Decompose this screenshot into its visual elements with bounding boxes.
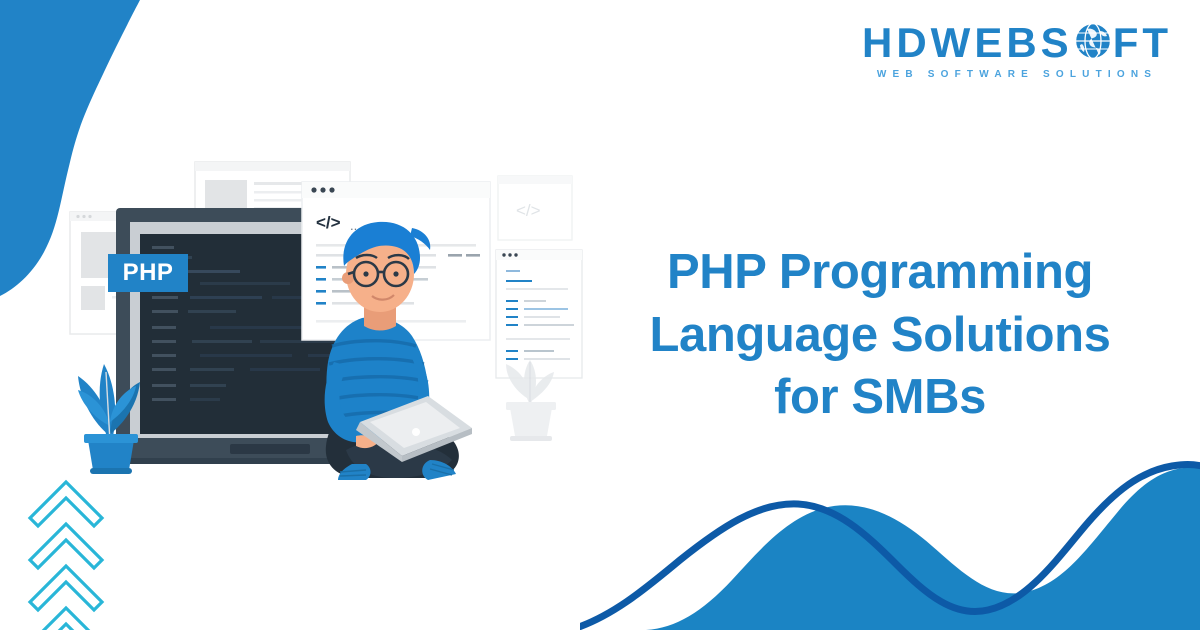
globe-icon <box>1074 22 1112 60</box>
side-window-code-glyph: </> <box>498 176 572 240</box>
page-title-line-1: PHP Programming <box>590 241 1170 304</box>
blue-waves-decoration <box>580 450 1200 630</box>
logo-text-part-2: FT <box>1113 22 1172 64</box>
banner-canvas: HDWEBS FT WEB SOFTWARE SOLUTIONS PHP Pro <box>0 0 1200 630</box>
developer-with-laptop-illustration: </> ... </> <box>60 150 600 490</box>
chevron-up-icon-stack <box>20 470 130 630</box>
logo-text-part-1: HDWEBS <box>862 22 1073 64</box>
page-title-line-2: Language Solutions <box>590 304 1170 367</box>
logo-tagline: WEB SOFTWARE SOLUTIONS <box>877 69 1157 80</box>
logo-wordmark: HDWEBS FT <box>862 22 1172 64</box>
php-badge-label: PHP <box>123 259 174 287</box>
hdwebsoft-logo[interactable]: HDWEBS FT WEB SOFTWARE SOLUTIONS <box>862 22 1172 80</box>
side-code-glyph: </> <box>516 201 541 220</box>
code-glyph-label: </> <box>316 213 341 232</box>
side-window-lines <box>496 250 582 378</box>
page-title: PHP Programming Language Solutions for S… <box>590 241 1170 429</box>
page-title-line-3: for SMBs <box>590 366 1170 429</box>
php-badge: PHP <box>108 254 188 292</box>
